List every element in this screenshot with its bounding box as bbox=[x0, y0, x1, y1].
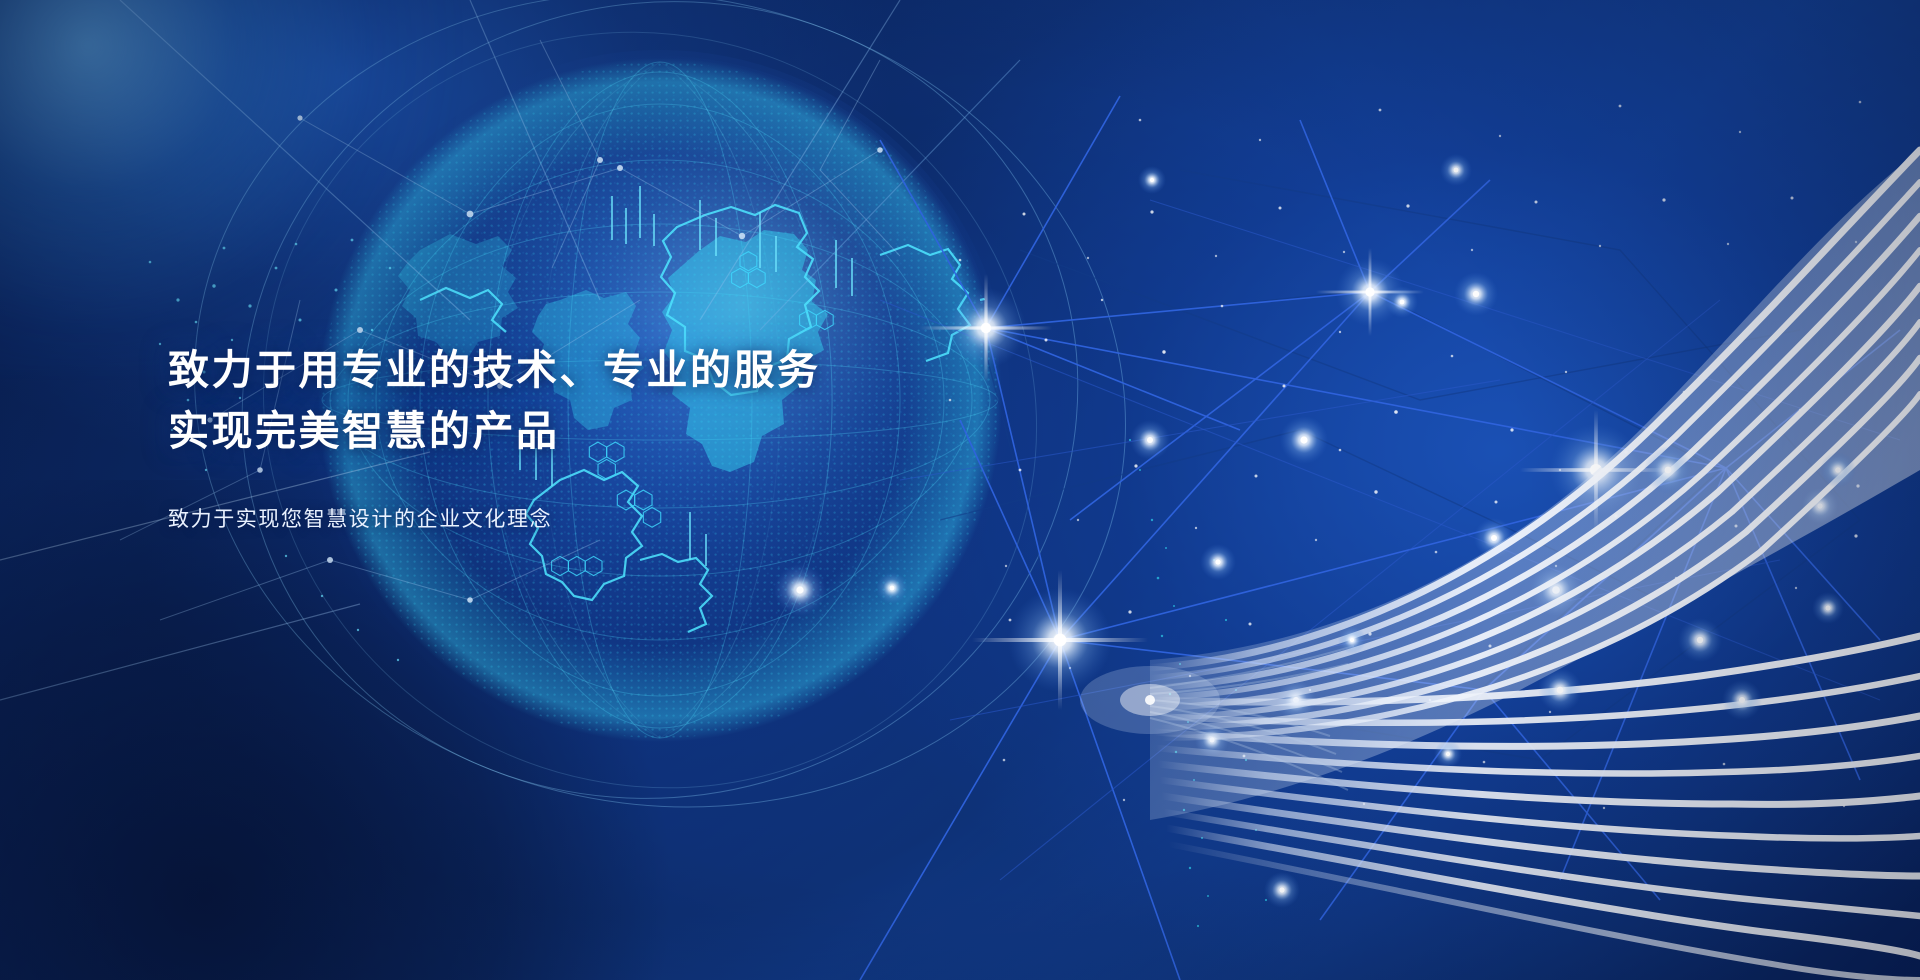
headline-line-1: 致力于用专业的技术、专业的服务 bbox=[168, 340, 1068, 401]
page-subtitle: 致力于实现您智慧设计的企业文化理念 bbox=[168, 503, 1068, 533]
headline-line-2: 实现完美智慧的产品 bbox=[168, 401, 1068, 462]
hero-copy: 致力于用专业的技术、专业的服务 实现完美智慧的产品 致力于实现您智慧设计的企业文… bbox=[168, 340, 1068, 533]
hero-banner: 致力于用专业的技术、专业的服务 实现完美智慧的产品 致力于实现您智慧设计的企业文… bbox=[0, 0, 1920, 980]
page-title: 致力于用专业的技术、专业的服务 实现完美智慧的产品 bbox=[168, 340, 1068, 461]
